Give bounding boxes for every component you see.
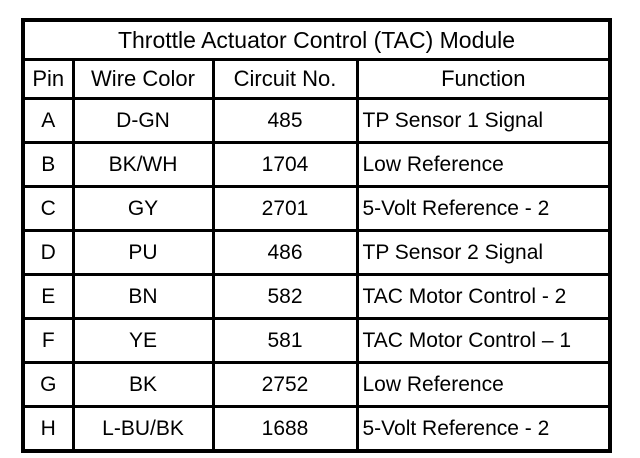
cell-function: Low Reference <box>357 143 610 187</box>
column-header-pin: Pin <box>23 60 73 99</box>
table-row: B BK/WH 1704 Low Reference <box>23 143 610 187</box>
cell-function: Low Reference <box>357 363 610 407</box>
table-row: G BK 2752 Low Reference <box>23 363 610 407</box>
cell-pin: H <box>23 407 73 452</box>
table-row: F YE 581 TAC Motor Control – 1 <box>23 319 610 363</box>
cell-pin: E <box>23 275 73 319</box>
cell-wire-color: BK <box>73 363 213 407</box>
table-row: H L-BU/BK 1688 5-Volt Reference - 2 <box>23 407 610 452</box>
cell-pin: F <box>23 319 73 363</box>
cell-function: TAC Motor Control - 2 <box>357 275 610 319</box>
table-row: A D-GN 485 TP Sensor 1 Signal <box>23 99 610 143</box>
table-row: E BN 582 TAC Motor Control - 2 <box>23 275 610 319</box>
column-header-function: Function <box>357 60 610 99</box>
cell-wire-color: D-GN <box>73 99 213 143</box>
cell-circuit-no: 2752 <box>213 363 357 407</box>
cell-function: TP Sensor 1 Signal <box>357 99 610 143</box>
cell-function: TAC Motor Control – 1 <box>357 319 610 363</box>
table-row: D PU 486 TP Sensor 2 Signal <box>23 231 610 275</box>
cell-circuit-no: 1688 <box>213 407 357 452</box>
cell-function: TP Sensor 2 Signal <box>357 231 610 275</box>
cell-wire-color: PU <box>73 231 213 275</box>
table-row: C GY 2701 5-Volt Reference - 2 <box>23 187 610 231</box>
cell-wire-color: BK/WH <box>73 143 213 187</box>
cell-pin: B <box>23 143 73 187</box>
cell-circuit-no: 1704 <box>213 143 357 187</box>
table-header: Throttle Actuator Control (TAC) Module P… <box>23 20 610 99</box>
table-column-header-row: Pin Wire Color Circuit No. Function <box>23 60 610 99</box>
cell-pin: D <box>23 231 73 275</box>
cell-function: 5-Volt Reference - 2 <box>357 187 610 231</box>
cell-circuit-no: 486 <box>213 231 357 275</box>
column-header-circuit-no: Circuit No. <box>213 60 357 99</box>
cell-wire-color: GY <box>73 187 213 231</box>
table-body: A D-GN 485 TP Sensor 1 Signal B BK/WH 17… <box>23 99 610 452</box>
table-title-row: Throttle Actuator Control (TAC) Module <box>23 20 610 60</box>
tac-module-pinout-table: Throttle Actuator Control (TAC) Module P… <box>21 18 612 453</box>
cell-circuit-no: 581 <box>213 319 357 363</box>
page-root: Throttle Actuator Control (TAC) Module P… <box>0 0 640 458</box>
cell-pin: C <box>23 187 73 231</box>
table-title: Throttle Actuator Control (TAC) Module <box>23 20 610 60</box>
cell-pin: G <box>23 363 73 407</box>
cell-circuit-no: 582 <box>213 275 357 319</box>
cell-wire-color: YE <box>73 319 213 363</box>
cell-wire-color: L-BU/BK <box>73 407 213 452</box>
cell-function: 5-Volt Reference - 2 <box>357 407 610 452</box>
column-header-wire-color: Wire Color <box>73 60 213 99</box>
cell-circuit-no: 2701 <box>213 187 357 231</box>
cell-pin: A <box>23 99 73 143</box>
cell-wire-color: BN <box>73 275 213 319</box>
cell-circuit-no: 485 <box>213 99 357 143</box>
